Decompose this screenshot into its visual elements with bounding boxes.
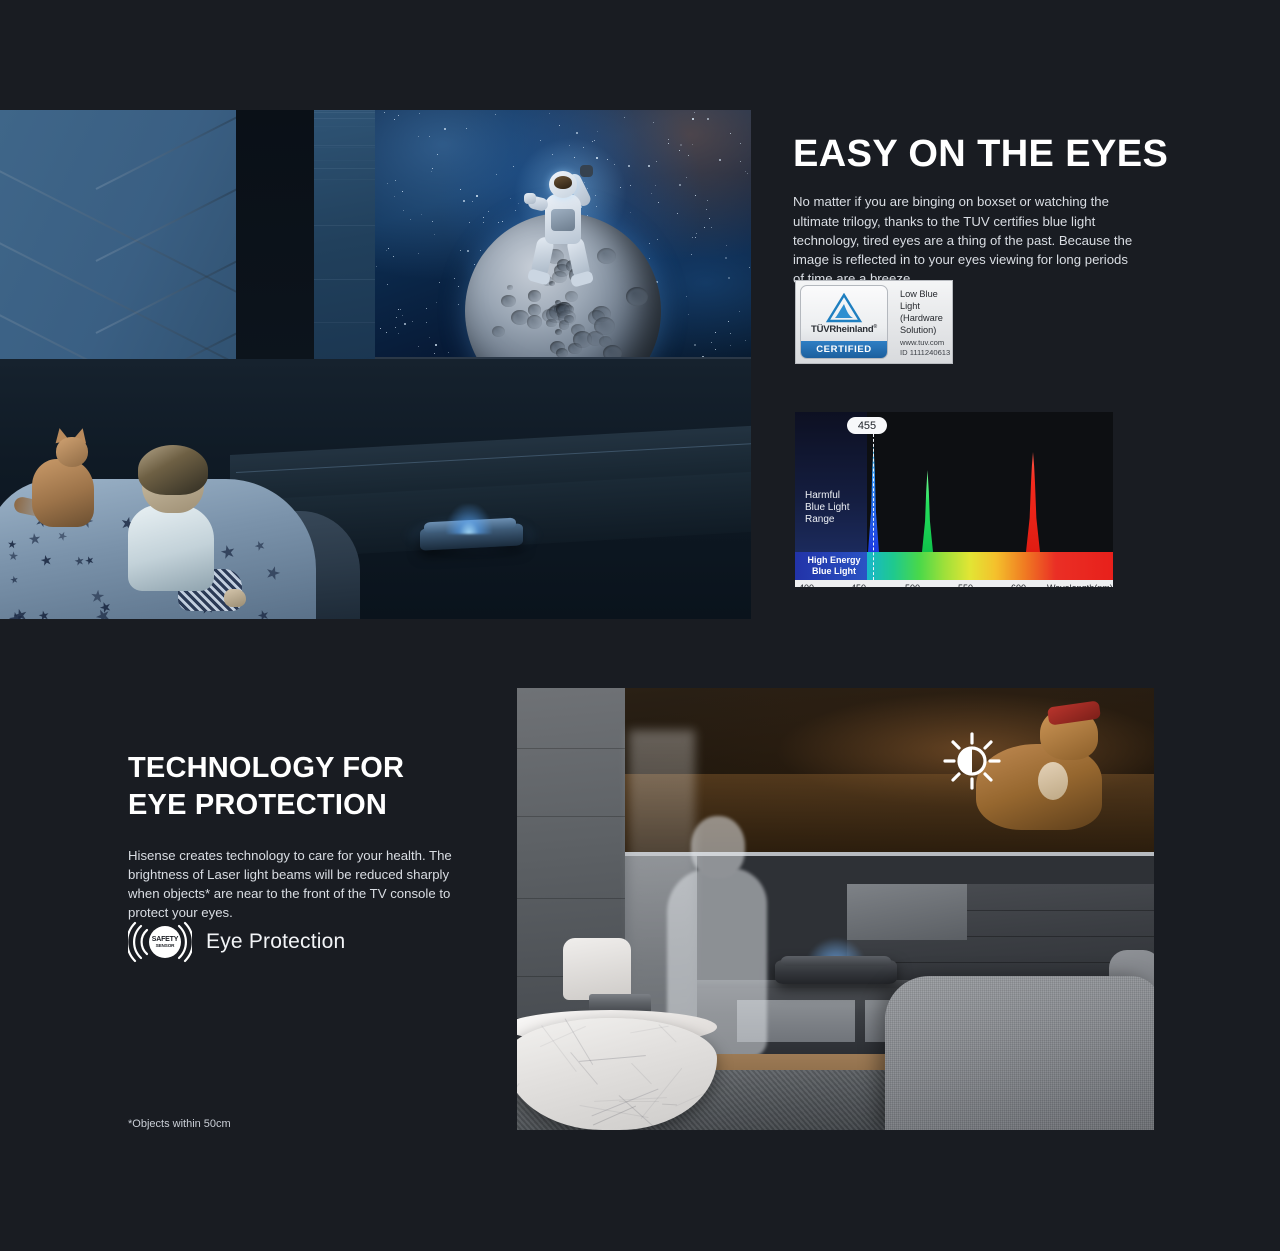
star [498,222,499,223]
star [709,218,710,219]
tuv-certification-title: Low Blue Light (Hardware Solution) [900,288,946,337]
star [474,264,475,265]
star [515,210,516,211]
pillow-star: ★ [263,562,283,584]
star [513,166,514,167]
moon-crater [588,310,605,325]
tuv-certified-banner: CERTIFIED [801,341,887,358]
star [395,327,396,328]
star [655,185,656,186]
tuv-badge-details: Low Blue Light (Hardware Solution) www.t… [892,281,952,363]
star [691,254,692,255]
star [747,173,748,174]
star [398,115,399,116]
star [740,161,741,162]
moon-crater [511,310,529,325]
page-title-technology-for-eye-protection: TECHNOLOGY FOR EYE PROTECTION [128,750,468,824]
star [439,282,440,283]
star [434,353,435,354]
star [707,118,709,120]
star [695,237,696,238]
pillow-star: ★ [255,607,271,619]
eye-protection-label: Eye Protection [206,930,345,954]
star [395,180,396,181]
spectrum-plot-area: HarmfulBlue LightRange [795,412,1113,552]
wall-seam [517,748,625,749]
star [620,187,621,188]
star [651,193,652,194]
star [394,119,395,120]
star [394,196,395,197]
star [594,140,595,141]
harmful-label-line: Harmful [805,490,849,502]
star [592,141,593,142]
laser-tv-projector-top [420,515,523,548]
star [418,136,419,137]
spectrum-peak-green [922,470,933,552]
star [656,161,657,162]
astronaut-figure [518,167,608,285]
star [680,144,682,146]
spectrum-peak-red [1026,452,1040,552]
star [454,278,455,279]
star [707,200,708,201]
star [679,150,680,151]
tuv-triangle-icon [825,293,863,323]
child-torso [128,505,214,591]
star [448,352,449,353]
star [460,250,461,251]
headline2-line-1: TECHNOLOGY FOR [128,752,404,784]
tuv-website: www.tuv.com [900,338,944,347]
star [658,202,659,203]
star [431,171,432,172]
table-lamp [563,938,631,1000]
pillow-star: ★ [252,537,268,553]
star [719,159,721,161]
tuv-certificate-id: ID 1111240613 [900,348,950,357]
pillow-star: ★ [27,532,42,549]
high-energy-label-line: High Energy [803,555,865,566]
star [730,345,731,346]
star [458,286,459,287]
top-body-paragraph: No matter if you are binging on boxset o… [793,192,1141,288]
star [388,248,389,249]
marble-vein [314,168,384,169]
moon-crater [556,348,568,358]
star [460,189,461,190]
x-axis-title: Wavelength(nm) [1047,583,1113,587]
star [496,174,497,175]
bottom-text-column: TECHNOLOGY FOR EYE PROTECTION Hisense cr… [128,750,468,922]
star [467,250,469,252]
star [488,211,489,212]
star [740,143,741,144]
moon-crater [492,326,505,337]
star [649,258,650,259]
hero-image-eye-protection [517,688,1154,1130]
star [745,171,746,172]
star [404,323,406,325]
wall-seam [517,898,625,899]
blue-light-spectrum-chart: HarmfulBlue LightRange High EnergyBlue L… [795,412,1113,587]
tuv-registered-mark: ® [874,324,877,330]
star [649,243,650,244]
cat-head [56,437,88,467]
cat-body [32,459,94,527]
moon-crater [501,295,516,307]
moon-crater [626,287,648,306]
star [706,209,707,210]
star [668,139,669,140]
star [463,200,465,202]
star [483,222,484,223]
wall-seam [517,816,625,817]
moon-crater [528,290,541,301]
peak-455-callout: 455 [847,417,887,434]
pillow-star: ★ [39,552,54,568]
safety-sensor-text-line1: SAFETY [152,936,178,943]
tuv-brand-label: TÜVRheinland [811,324,874,335]
star [692,118,694,120]
projector-top-face-bottom [781,956,891,966]
moon-crater [555,329,562,335]
headline2-line-2: EYE PROTECTION [128,789,387,821]
moon-crater [542,309,557,322]
star [614,164,615,165]
table-marble-vein [619,1101,659,1102]
dog-chest-fur [1038,762,1068,800]
star [715,332,716,333]
x-axis-tick-label: 550 [958,583,973,587]
safety-sensor-badge: SAFETY SENSOR [149,926,181,958]
page-title-easy-on-the-eyes: EASY ON THE EYES [793,134,1193,174]
moon-crater [556,304,570,316]
footnote-objects-within-50cm: *Objects within 50cm [128,1118,231,1130]
marble-vein [314,110,384,111]
tuv-rheinland-certification-badge: TÜVRheinland® CERTIFIED Low Blue Light (… [795,280,953,364]
marble-vein [314,147,384,148]
x-axis-tick-label: 600 [1011,583,1026,587]
star [412,321,413,322]
laser-tv-projector-bottom [775,950,897,984]
star [711,227,712,228]
star [437,154,438,155]
star [730,133,731,134]
star [688,155,689,156]
star [624,117,625,118]
star [559,125,560,126]
silhouette-head [691,816,745,878]
star [435,344,437,346]
star [398,333,399,334]
star [426,308,427,309]
star [410,219,411,220]
marble-vein [314,322,384,323]
spectrum-x-axis: 400450500550600Wavelength(nm) [795,580,1113,587]
moon-crater [565,291,578,302]
bottom-body-paragraph: Hisense creates technology to care for y… [128,846,460,923]
safety-sensor-text-line2: SENSOR [156,944,175,949]
x-axis-tick-label: 500 [905,583,920,587]
hero-image-easy-on-the-eyes: ★★★★★★★★★★★★★★★★★★★★★★★★★★★★★★★★★★ [0,110,751,619]
star [630,212,631,213]
star [495,114,496,115]
table-marble-vein [565,1018,593,1064]
pillow-star: ★ [6,609,25,619]
star [458,304,459,305]
star [387,284,388,285]
marble-vein [314,225,384,226]
marble-vein [314,279,384,280]
star [387,183,388,184]
tuv-brand-text: TÜVRheinland® [811,324,877,335]
star [686,177,687,178]
star [552,154,553,155]
star [745,340,746,341]
star [393,256,394,257]
x-axis-tick-label: 450 [851,583,866,587]
star [694,112,695,113]
star [630,185,631,186]
star [576,132,578,134]
star [432,221,433,222]
moon-crater [507,285,512,290]
star [583,147,584,148]
star [429,136,430,137]
star [715,349,716,350]
moon-crater [603,345,622,360]
star [444,128,446,130]
star [419,113,420,114]
x-axis-tick-label: 400 [799,583,814,587]
star [688,314,689,315]
projector-light-beam [446,504,492,534]
star [711,342,712,343]
star [696,233,697,234]
pillow-star: ★ [6,539,17,551]
marble-vein [314,145,384,146]
star [725,257,727,259]
star [502,221,503,222]
astronaut-left-hand [524,193,536,204]
star [400,309,401,310]
high-energy-blue-light-label: High EnergyBlue Light [803,555,865,578]
moon-crater [527,315,543,328]
fabric-sofa [885,976,1154,1130]
star [695,195,696,196]
astronaut-right-hand [580,165,593,177]
astronaut-chest-pack [551,209,575,231]
star [480,250,481,251]
star [739,311,740,312]
star [569,145,570,146]
star [657,239,658,240]
pillow-star: ★ [55,528,70,543]
wall-mirror-panel [847,884,967,940]
marble-vein [314,112,384,113]
page-root: ★★★★★★★★★★★★★★★★★★★★★★★★★★★★★★★★★★ EASY … [0,0,1280,1251]
table-marble-vein [631,1063,652,1084]
wall-groove [96,253,253,334]
star [402,315,403,316]
star [476,195,478,197]
harmful-label-line: Blue Light [805,502,849,514]
star [692,237,693,238]
star [403,210,404,211]
star [402,191,403,192]
high-energy-label-line: Blue Light [803,566,865,577]
star [396,317,397,318]
star [510,198,511,199]
star [432,168,433,169]
star [730,333,731,334]
star [607,159,608,160]
safety-sensor-icon: SAFETY SENSOR [128,918,192,966]
moon-crater [573,331,592,347]
star [436,302,437,303]
star [483,217,484,218]
star [549,113,550,114]
star [429,337,430,338]
star [384,112,385,113]
star [540,140,541,141]
wall-groove [96,181,253,262]
star [386,250,387,251]
star [434,234,435,235]
star [469,222,470,223]
star [398,309,399,310]
child-hair [138,445,208,495]
star [386,332,387,333]
eye-protection-feature: SAFETY SENSOR Eye Protection [128,918,345,966]
star [694,344,696,346]
star [679,184,681,186]
marble-vein [314,118,384,119]
star [686,296,687,297]
star [466,128,467,129]
star [418,253,419,254]
marble-vein [314,160,384,161]
child-figure [112,449,230,617]
star [596,157,598,159]
marble-vein [314,126,384,127]
pillow-star: ★ [9,575,20,587]
wall-groove [96,110,253,190]
star [421,214,422,215]
star [728,321,729,322]
star [376,266,377,267]
star [726,245,727,246]
star [728,277,730,279]
star [668,143,669,144]
cat-figure [30,437,106,527]
astronaut-visor [554,176,572,189]
peak-455-dashed-line [873,434,874,580]
star [653,122,654,123]
star [692,144,693,145]
top-text-column: EASY ON THE EYES No matter if you are bi… [793,134,1193,289]
star [472,201,473,202]
star [677,213,678,214]
harmful-label-line: Range [805,514,849,526]
tuv-badge-seal: TÜVRheinland® CERTIFIED [800,285,888,359]
star [426,322,427,323]
star [574,157,575,158]
harmful-blue-light-label: HarmfulBlue LightRange [805,490,849,526]
star [648,165,650,167]
marble-vein [314,179,384,180]
star [628,165,630,167]
star [380,328,381,329]
star [704,227,705,228]
moon-crater [528,304,541,315]
brightness-icon [941,730,1003,792]
child-foot [224,589,246,607]
star [597,131,598,132]
star [749,267,750,268]
pillow-star: ★ [37,608,51,619]
tv-screen-astronaut [375,110,751,360]
star [418,346,419,347]
